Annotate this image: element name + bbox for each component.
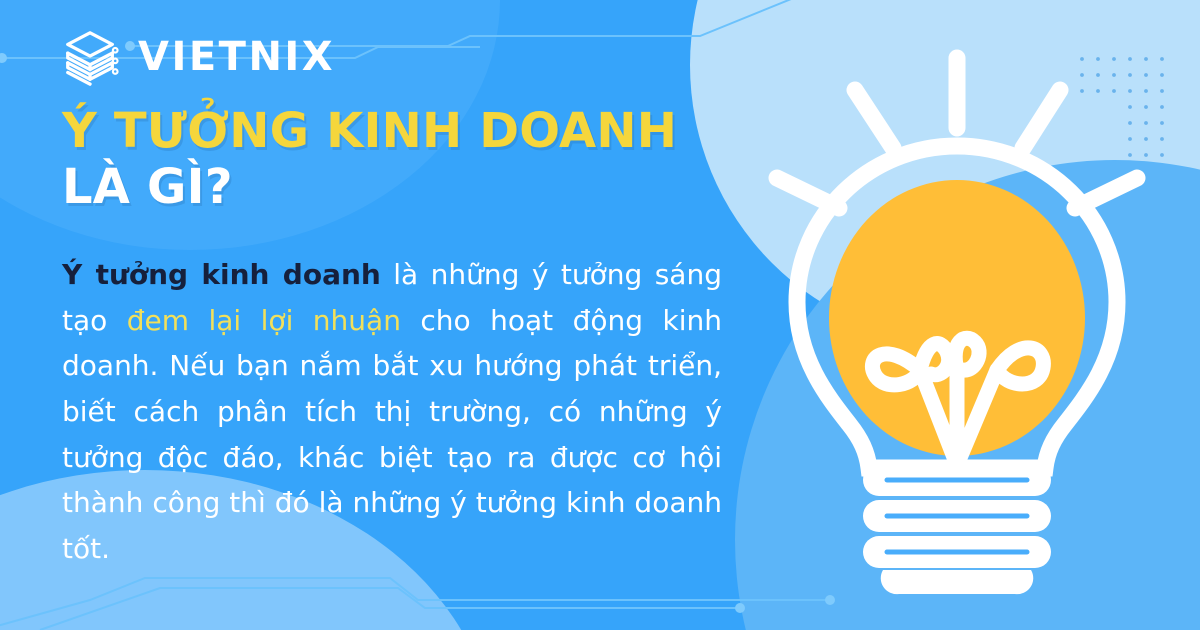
- headline-line-2: LÀ GÌ?: [62, 160, 762, 216]
- body-lead-text: Ý tưởng kinh doanh: [62, 258, 381, 291]
- body-text-part-2: cho hoạt động kinh doanh. Nếu bạn nắm bắ…: [62, 304, 722, 565]
- headline-line-1: Ý TƯỞNG KINH DOANH: [62, 104, 762, 160]
- lightbulb-icon: [735, 40, 1175, 600]
- stacked-layers-icon: [60, 26, 122, 88]
- body-highlight-text: đem lại lợi nhuận: [127, 304, 401, 337]
- page-title: Ý TƯỞNG KINH DOANH LÀ GÌ?: [62, 104, 762, 215]
- bulb-base-icon: [863, 464, 1051, 594]
- banner-canvas: VIETNIX Ý TƯỞNG KINH DOANH LÀ GÌ? Ý tưởn…: [0, 0, 1200, 630]
- brand-name: VIETNIX: [138, 37, 335, 77]
- body-paragraph: Ý tưởng kinh doanh là những ý tưởng sáng…: [62, 252, 722, 571]
- brand-logo[interactable]: VIETNIX: [60, 26, 335, 88]
